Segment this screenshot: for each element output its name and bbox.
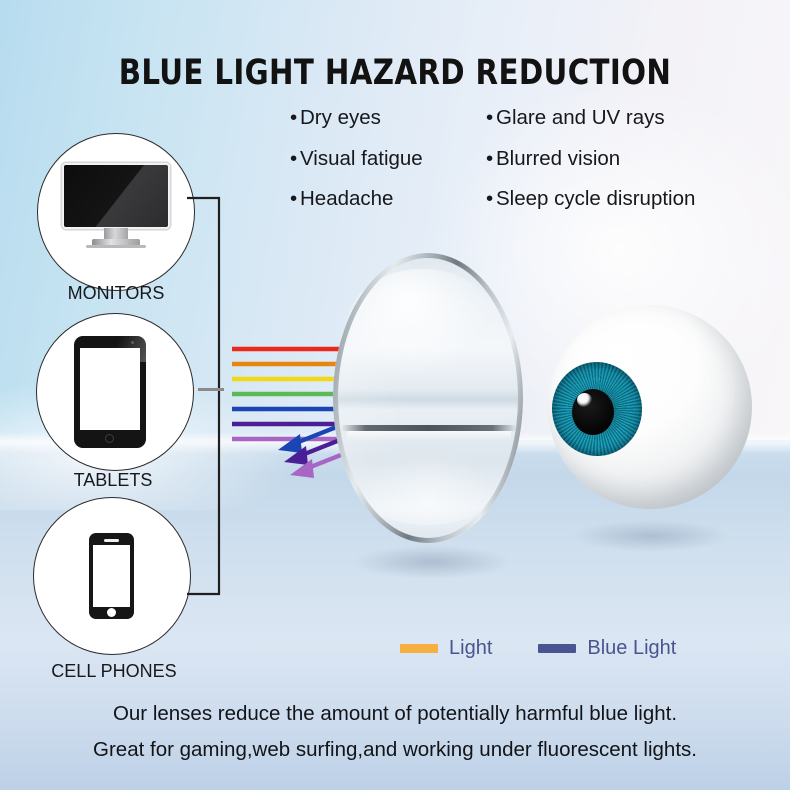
legend-label-blue-light: Blue Light	[587, 637, 676, 660]
caption-line-1: Our lenses reduce the amount of potentia…	[0, 702, 790, 726]
caption-line-2: Great for gaming,web surfing,and working…	[0, 738, 790, 762]
legend: Light Blue Light	[400, 637, 676, 660]
legend-swatch-blue-light	[538, 644, 576, 653]
eyeball	[548, 305, 752, 509]
eye-shadow	[572, 520, 730, 552]
eye-highlight	[577, 393, 592, 407]
legend-swatch-light	[400, 644, 438, 653]
legend-label-light: Light	[449, 637, 492, 660]
infographic-stage: BLUE LIGHT HAZARD REDUCTION •Dry eyes •V…	[0, 0, 790, 790]
lens-shadow	[352, 545, 512, 579]
eyeglass-lens	[333, 253, 523, 543]
lens-rim	[333, 253, 523, 543]
